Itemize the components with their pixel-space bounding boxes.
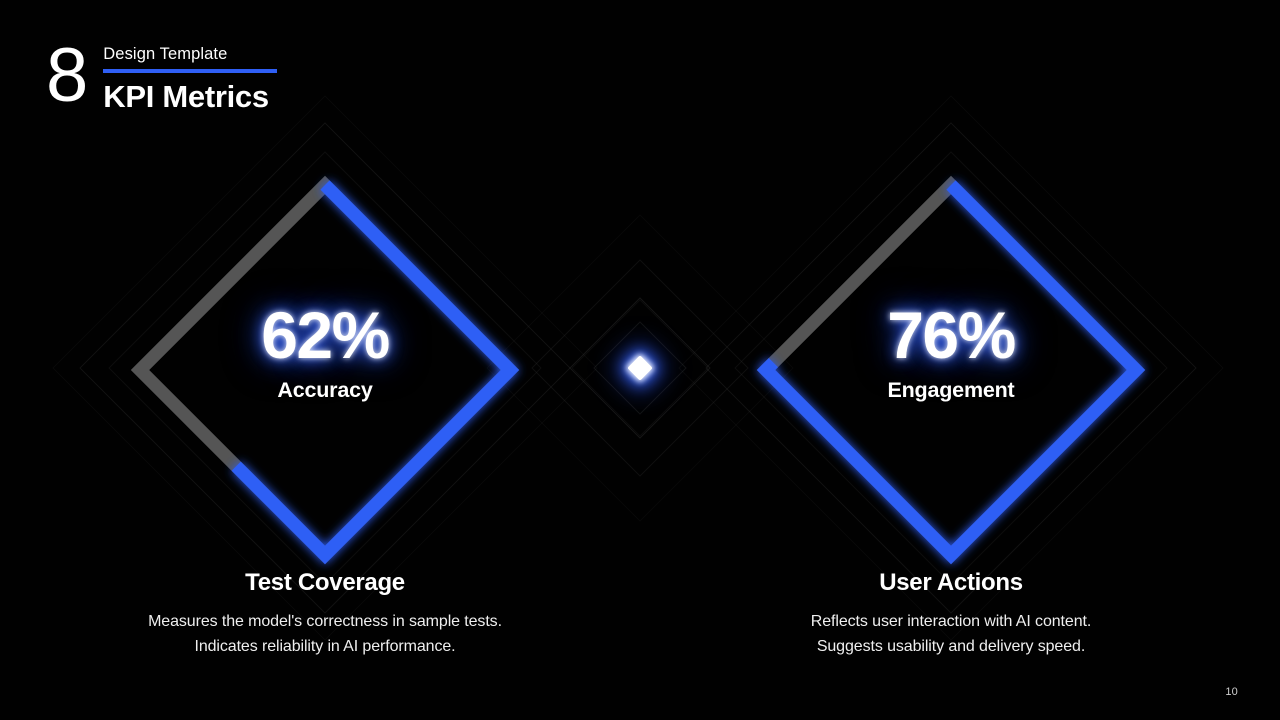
eyebrow-label: Design Template	[103, 44, 277, 64]
kpi-metric-label-left: Accuracy	[105, 378, 545, 403]
kpi-card-right[interactable]: 76% Engagement User Actions Reflects use…	[731, 150, 1171, 590]
kpi-caption-right: User Actions Reflects user interaction w…	[731, 568, 1171, 659]
kpi-metric-label-right: Engagement	[731, 378, 1171, 403]
kpi-title-left: Test Coverage	[105, 568, 545, 598]
slide-number: 8	[46, 36, 87, 116]
kpi-description-line-2: Indicates reliability in AI performance.	[105, 634, 545, 659]
center-gem-icon	[627, 355, 652, 380]
kpi-title-right: User Actions	[731, 568, 1171, 598]
kpi-diamond-gauge-left: 62% Accuracy	[105, 150, 545, 590]
kpi-caption-left: Test Coverage Measures the model's corre…	[105, 568, 545, 659]
kpi-value-block-left: 62% Accuracy	[105, 300, 545, 403]
page-title: KPI Metrics	[103, 79, 277, 115]
center-ornament	[560, 288, 720, 448]
slide-header: 8 Design Template KPI Metrics	[46, 34, 277, 116]
kpi-description-line-2: Suggests usability and delivery speed.	[731, 634, 1171, 659]
kpi-description-left: Measures the model's correctness in samp…	[105, 609, 545, 659]
slide-root: 8 Design Template KPI Metrics	[0, 0, 1280, 720]
page-number: 10	[1225, 686, 1238, 698]
kpi-description-line-1: Reflects user interaction with AI conten…	[731, 609, 1171, 634]
kpi-percent-value-right: 76%	[731, 300, 1171, 370]
kpi-diamond-gauge-right: 76% Engagement	[731, 150, 1171, 590]
kpi-value-block-right: 76% Engagement	[731, 300, 1171, 403]
kpi-description-line-1: Measures the model's correctness in samp…	[105, 609, 545, 634]
accent-rule-divider	[103, 69, 277, 73]
kpi-card-left[interactable]: 62% Accuracy Test Coverage Measures the …	[105, 150, 545, 590]
kpi-description-right: Reflects user interaction with AI conten…	[731, 609, 1171, 659]
kpi-percent-value-left: 62%	[105, 300, 545, 370]
center-diamond-rings	[560, 288, 720, 448]
header-text-block: Design Template KPI Metrics	[103, 34, 277, 115]
